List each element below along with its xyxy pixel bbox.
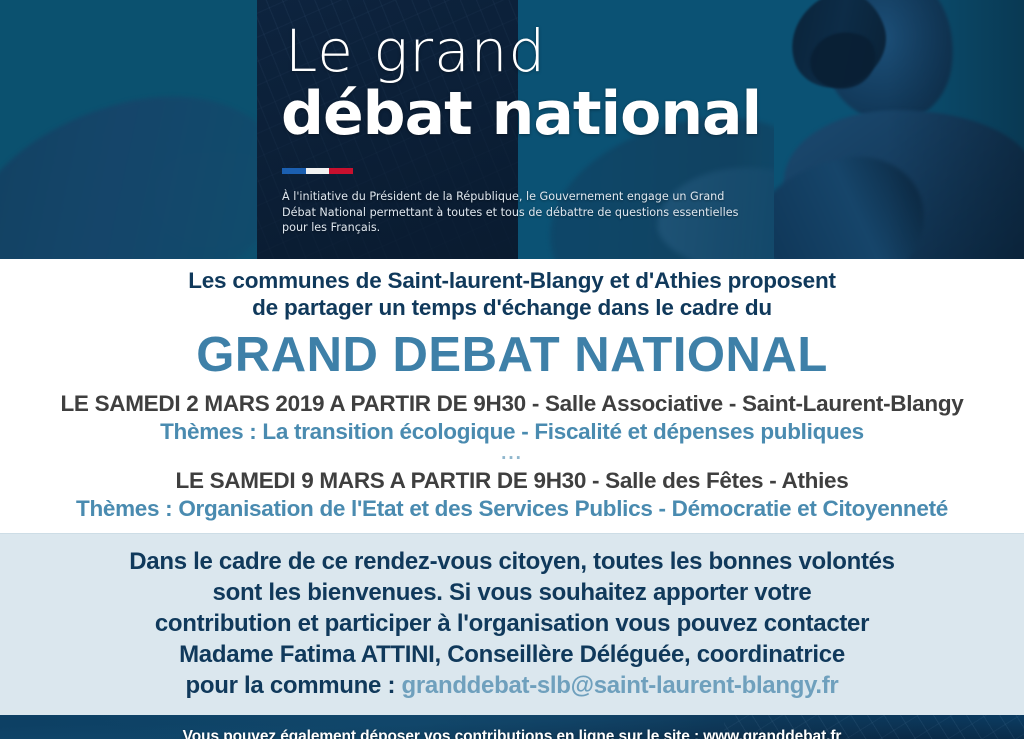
hero-subtitle-line-1: À l'initiative du Président de la Républ… (282, 189, 737, 205)
flag-blue-stripe (282, 168, 306, 174)
intro-line-1: Les communes de Saint-laurent-Blangy et … (0, 267, 1024, 294)
contact-line-2: sont les bienvenues. Si vous souhaitez a… (0, 577, 1024, 608)
flag-red-stripe (329, 168, 353, 174)
event-1-datetime: LE SAMEDI 2 MARS 2019 A PARTIR DE 9H30 -… (0, 390, 1024, 418)
contact-line-4: Madame Fatima ATTINI, Conseillère Délégu… (0, 639, 1024, 670)
hero-title-line1: Le grand (285, 22, 546, 80)
contact-line-3: contribution et participer à l'organisat… (0, 608, 1024, 639)
contact-email-link[interactable]: granddebat-slb@saint-laurent-blangy.fr (402, 672, 839, 699)
contact-line-5: pour la commune : granddebat-slb@saint-l… (0, 670, 1024, 701)
hero-banner: Le grand débat national À l'initiative d… (0, 0, 1024, 259)
page-title: GRAND DEBAT NATIONAL (0, 327, 1024, 384)
footer-copy: Vous pouvez également déposer vos contri… (0, 715, 1024, 739)
hero-subtitle: À l'initiative du Président de la Républ… (282, 189, 737, 236)
hero-photo-left-hand (0, 0, 257, 259)
statue-shade-overlay (774, 0, 1024, 259)
hero-title-line2: débat national (281, 84, 761, 144)
event-2-datetime: LE SAMEDI 9 MARS A PARTIR DE 9H30 - Sall… (0, 467, 1024, 495)
events-separator: ... (0, 446, 1024, 461)
contact-band: Dans le cadre de ce rendez-vous citoyen,… (0, 533, 1024, 715)
footer-line-1: Vous pouvez également déposer vos contri… (0, 727, 1024, 739)
event-2-themes: Thèmes : Organisation de l'Etat et des S… (0, 495, 1024, 523)
hero-subtitle-line-2: Débat National permettant à toutes et to… (282, 205, 737, 221)
contact-email-prefix: pour la commune : (186, 672, 402, 699)
french-flag-bar (282, 168, 353, 174)
footer-band: Vous pouvez également déposer vos contri… (0, 715, 1024, 739)
hero-copy: Le grand débat national À l'initiative d… (281, 0, 801, 259)
event-1-themes: Thèmes : La transition écologique - Fisc… (0, 418, 1024, 446)
hero-subtitle-line-3: pour les Français. (282, 220, 737, 236)
flag-white-stripe (306, 168, 330, 174)
poster-root: Le grand débat national À l'initiative d… (0, 0, 1024, 739)
intro-line-2: de partager un temps d'échange dans le c… (0, 294, 1024, 321)
main-content: Les communes de Saint-laurent-Blangy et … (0, 259, 1024, 523)
marianne-statue-image (774, 0, 1024, 259)
contact-line-1: Dans le cadre de ce rendez-vous citoyen,… (0, 546, 1024, 577)
